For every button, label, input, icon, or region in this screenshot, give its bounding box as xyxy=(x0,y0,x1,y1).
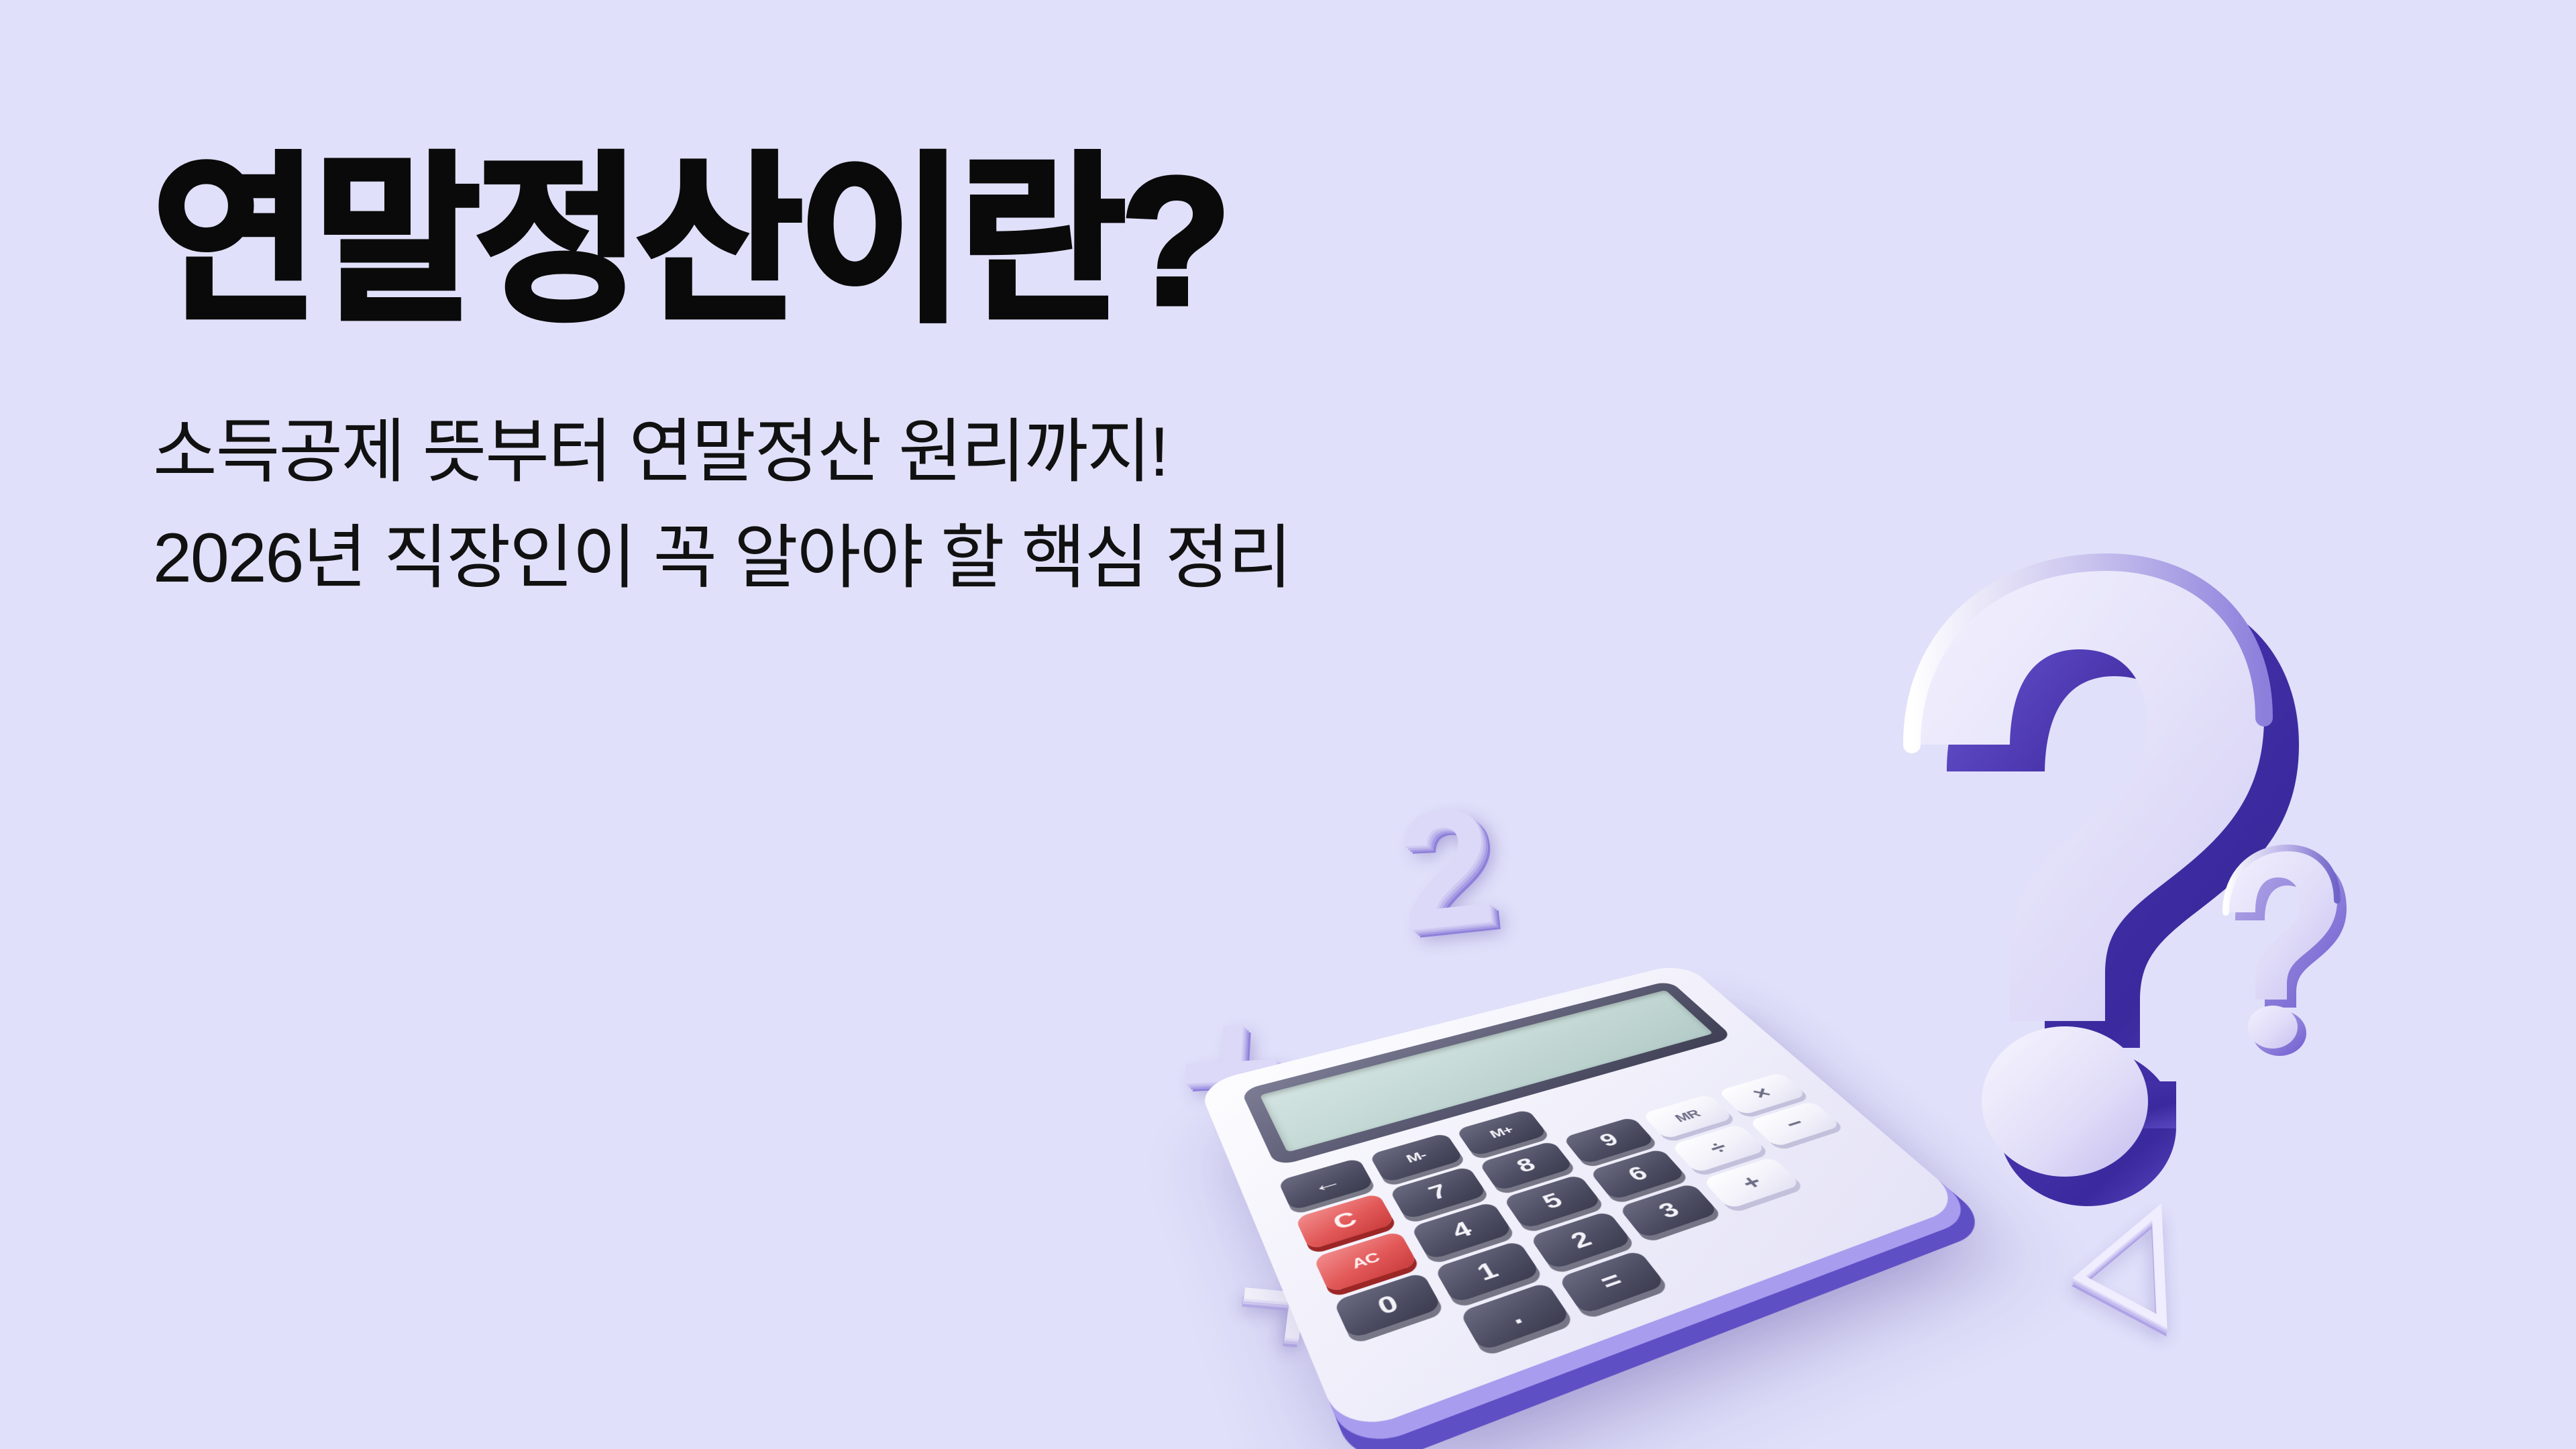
key-spacer xyxy=(1650,1220,1756,1281)
digit-4-key[interactable]: 4 xyxy=(1411,1201,1513,1260)
poster-canvas: 연말정산이란? 소득공제 뜻부터 연말정산 원리까지! 2026년 직장인이 꼭… xyxy=(0,0,2576,1449)
digit-0-key[interactable]: 0 xyxy=(1333,1272,1443,1340)
digit-6-key[interactable]: 6 xyxy=(1589,1148,1686,1201)
question-mark-small-3d-icon xyxy=(2194,839,2341,1053)
subtitle-line-1: 소득공제 뜻부터 연말정산 원리까지! xyxy=(153,399,1763,505)
question-mark-large-3d-icon xyxy=(1744,523,2254,1194)
angle-triangle-3d-icon: ◺ xyxy=(2068,1183,2280,1332)
digit-two-3d-icon: 2 xyxy=(1391,780,1501,957)
digit-7-key[interactable]: 7 xyxy=(1389,1166,1488,1220)
key-spacer xyxy=(1736,1191,1839,1248)
memory-minus-key[interactable]: M- xyxy=(1369,1132,1464,1183)
key-spacer xyxy=(1355,1316,1470,1391)
digit-5-key[interactable]: 5 xyxy=(1503,1174,1603,1229)
digit-1-key[interactable]: 1 xyxy=(1434,1240,1541,1304)
equals-key[interactable]: = xyxy=(1558,1250,1666,1315)
memory-plus-key[interactable]: M+ xyxy=(1456,1109,1548,1157)
clear-key[interactable]: C xyxy=(1295,1193,1395,1250)
digit-8-key[interactable]: 8 xyxy=(1478,1140,1574,1191)
decimal-point-key[interactable]: . xyxy=(1460,1282,1572,1351)
digit-3-key[interactable]: 3 xyxy=(1618,1183,1719,1239)
hero-illustration: 2 + ✕ ◺ ←M-M+C789MR×AC456÷−0123+.= xyxy=(1140,510,2576,1449)
backspace-key[interactable]: ← xyxy=(1278,1158,1375,1211)
all-clear-key[interactable]: AC xyxy=(1313,1230,1418,1293)
digit-2-key[interactable]: 2 xyxy=(1529,1211,1633,1271)
page-title: 연말정산이란? xyxy=(153,148,1763,335)
